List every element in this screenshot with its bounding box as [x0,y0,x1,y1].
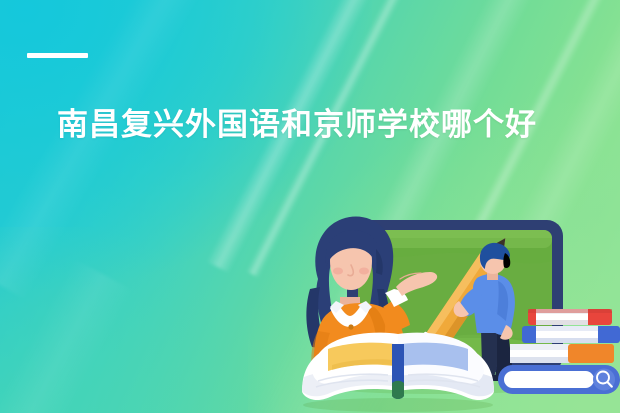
magnifier-icon[interactable] [593,369,615,391]
page-title: 南昌复兴外国语和京师学校哪个好 [57,105,597,145]
open-book [302,333,494,412]
banner: 南昌复兴外国语和京师学校哪个好 [0,0,620,413]
background-bottom-left-glow [0,227,279,413]
online-education-illustration [288,205,620,413]
search-bar[interactable] [498,365,620,394]
title-accent-rule [27,53,88,58]
search-input[interactable] [504,371,594,388]
